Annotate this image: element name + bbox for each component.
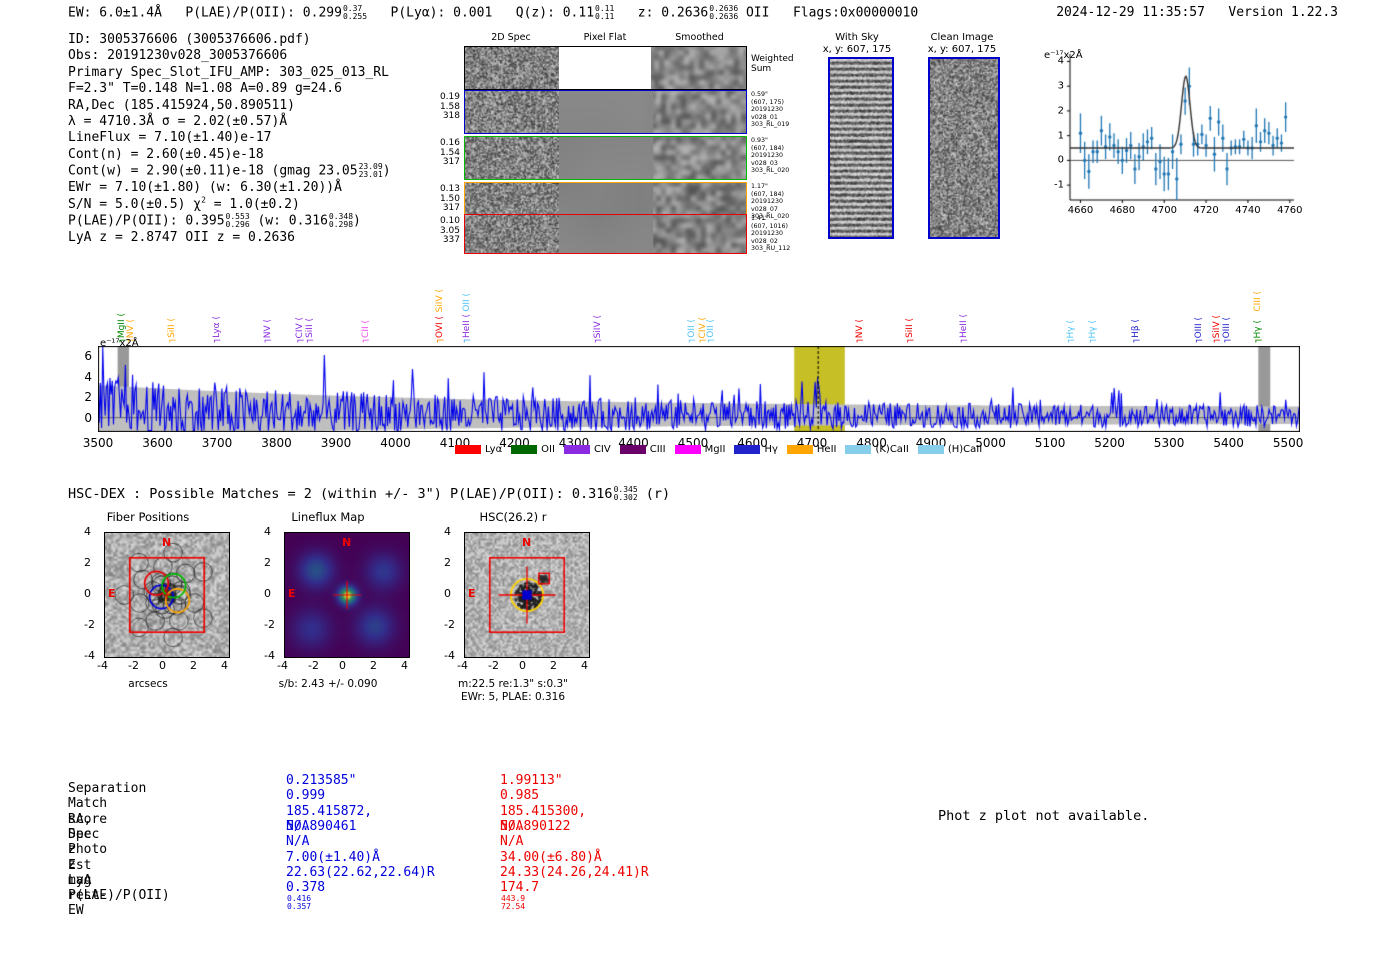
panel-ytick: -2 (444, 618, 455, 631)
spectrum-line-label: SiII ( (167, 318, 177, 338)
info-cont-n: Cont(n) = 2.60(±0.45)e-18 (68, 147, 391, 163)
cutout-title-with-sky: With Skyx, y: 607, 175 (812, 32, 902, 56)
weighted-sum-row (464, 46, 747, 90)
header-timestamp-version: 2024-12-29 11:35:57 Version 1.22.3 (1056, 5, 1338, 20)
header-ew: EW: 6.0±1.4Å (68, 6, 162, 21)
cutout-title-clean: Clean Imagex, y: 607, 175 (912, 32, 1012, 56)
match-value-primary: 22.63(22.62,22.64)R (286, 865, 435, 880)
spectrum-xtick: 5200 (1094, 436, 1125, 450)
legend-label: (H)CaII (948, 444, 982, 455)
legend-swatch (511, 445, 537, 454)
match-value-primary: 0.213585" (286, 773, 356, 788)
match-value-primary: 0.999 (286, 788, 325, 803)
legend-label: OII (541, 444, 555, 455)
panel-ytick: 2 (444, 556, 451, 569)
legend-item[interactable]: HeII (787, 444, 837, 455)
legend-item[interactable]: OII (511, 444, 555, 455)
phot-z-note: Phot z plot not available. (938, 808, 1149, 824)
elp-ytick: -1 (1044, 180, 1064, 191)
panel-hsc-r: HSC(26.2) r m:22.5 re:1.3" s:0.3" EWr: 5… (418, 510, 608, 710)
panel-ytick: 4 (84, 525, 91, 538)
info-sn: S/N = 5.0(±0.5) χ2 = 1.0(±0.2) (68, 197, 391, 213)
panel-title-fiber-positions: Fiber Positions (58, 510, 238, 524)
spectrum-xtick: 3800 (261, 436, 292, 450)
legend-label: Hγ (764, 444, 777, 455)
legend-label: Lyα (485, 444, 502, 455)
match-value-secondary: 0.985 (500, 788, 539, 803)
detection-info-block: ID: 3005376606 (3005376606.pdf) Obs: 201… (68, 32, 391, 246)
spectrum-flux-unit: e⁻¹⁷x2Å (100, 338, 139, 349)
compass-east: E (288, 587, 296, 600)
panel-ytick: -4 (84, 649, 95, 662)
spectrum-line-label: SiII ( (305, 318, 315, 338)
panel-xtick: 4 (221, 659, 228, 672)
header-z-range: 0.26360.2636 (709, 5, 738, 21)
hsc-xlabel2: EWr: 5, PLAE: 0.316 (418, 691, 608, 704)
header-datetime: 2024-12-29 11:35:57 (1056, 5, 1205, 20)
clean-image (928, 57, 1000, 239)
panel-xtick: 4 (581, 659, 588, 672)
weighted-sum-cell-white (559, 47, 651, 89)
legend-swatch (675, 445, 701, 454)
spectrum-xtick: 3500 (83, 436, 114, 450)
hscdex-header: HSC-DEX : Possible Matches = 2 (within +… (68, 486, 670, 502)
legend-item[interactable]: Lyα (455, 444, 502, 455)
info-gmag-range: 23.0923.01 (359, 163, 383, 179)
spec2d-cell-flat (559, 215, 653, 253)
spectrum-line-label: CIV ( (698, 317, 708, 338)
spectrum-ytick: 4 (72, 370, 92, 384)
panel-xtick: -4 (97, 659, 108, 672)
elp-ytick: 0 (1044, 155, 1064, 166)
panel-xtick: -4 (277, 659, 288, 672)
spectrum-line-label: OIII ( (1222, 317, 1232, 338)
spec2d-row-stats: 0.191.58318 (424, 93, 460, 122)
panel-title-hsc-r: HSC(26.2) r (418, 510, 608, 524)
header-version: Version 1.22.3 (1228, 5, 1338, 20)
panel-xtick: 4 (401, 659, 408, 672)
spec2d-row[interactable] (464, 214, 747, 254)
spec2d-cell-raw (465, 215, 559, 253)
legend-item[interactable]: (K)CaII (845, 444, 908, 455)
spectrum-line-label: OIII ( (1194, 317, 1204, 338)
match-row-label: mag (68, 873, 91, 888)
match-value-primary: 7.00(±1.40)Å (286, 850, 380, 865)
spectrum-xtick: 5300 (1154, 436, 1185, 450)
elp-xtick: 4660 (1068, 205, 1093, 216)
spectrum-line-label: SiIV ( (593, 315, 603, 338)
spectrum-ytick: 0 (72, 411, 92, 425)
header-plae: P(LAE)/P(OII): 0.299 (185, 6, 342, 21)
elp-xtick: 4720 (1193, 205, 1218, 216)
match-value-secondary: N/A (500, 834, 523, 849)
emission-line-plot: e⁻¹⁷x2Å 466046804700472047404760-101234 (1038, 48, 1300, 228)
panel-xtick: 2 (370, 659, 377, 672)
header-flags: Flags:0x00000010 (793, 6, 918, 21)
legend-label: MgII (705, 444, 726, 455)
spectrum-line-label: SiII ( (905, 318, 915, 338)
spectrum-line-label: OVI ( (435, 316, 445, 338)
spec2d-row-stats: 0.131.50317 (424, 185, 460, 214)
spec2d-cell-flat (559, 91, 653, 133)
info-redshifts: LyA z = 2.8747 OII z = 0.2636 (68, 230, 391, 246)
match-value-secondary: 34.00(±6.80)Å (500, 850, 602, 865)
info-seeing: F=2.3" T=0.148 N=1.08 A=0.89 g=24.6 (68, 81, 391, 97)
panel-ytick: 0 (84, 587, 91, 600)
info-cont-w: Cont(w) = 2.90(±0.11)e-18 (gmag 23.0523.… (68, 163, 391, 180)
weighted-sum-label: WeightedSum (751, 54, 794, 74)
panel-xtick: -2 (308, 659, 319, 672)
spec2d-row-meta: 0.93"(607, 184)20191230v028_03303_RL_020 (751, 137, 821, 175)
elp-ytick: 1 (1044, 130, 1064, 141)
legend-item[interactable]: CIV (564, 444, 611, 455)
panel-xtick: -2 (128, 659, 139, 672)
spec2d-cell-smooth (653, 137, 747, 179)
spectrum-line-label: HeII ( (462, 314, 472, 338)
match-value-primary: N/A (286, 819, 309, 834)
info-id: ID: 3005376606 (3005376606.pdf) (68, 32, 391, 48)
spectrum-line-labels: MgII (⌐NV (⌐SiII (⌐Lyα (⌐NV (⌐CIV (⌐SiII… (98, 272, 1300, 346)
header-qz: Q(z): 0.11 (516, 6, 594, 21)
header-z-type: OII (746, 6, 769, 21)
spectrum-line-label: HeII ( (959, 314, 969, 338)
spec2d-row-meta: 1.41"(607, 1016)20191230v028_02303_RU_11… (751, 215, 821, 253)
legend-label: CIII (650, 444, 666, 455)
compass-east: E (468, 587, 476, 600)
spectrum-line-label: OII ( (462, 293, 472, 312)
panel-ytick: 2 (264, 556, 271, 569)
panel-ytick: -2 (84, 618, 95, 631)
match-value-primary: N/A (286, 834, 309, 849)
spectrum-xtick: 4000 (380, 436, 411, 450)
match-value-secondary: N/A (500, 819, 523, 834)
spec2d-row[interactable] (464, 136, 747, 180)
match-plae-secondary: 174.7443.972.54 (500, 880, 539, 911)
legend-swatch (918, 445, 944, 454)
col-title-2dspec: 2D Spec (464, 32, 558, 43)
header-plae-range: 0.370.255 (343, 5, 367, 21)
panel-ytick: -4 (444, 649, 455, 662)
match-value-secondary: 1.99113" (500, 773, 563, 788)
elp-xtick: 4760 (1277, 205, 1302, 216)
spectrum-line-label: Lyα ( (212, 316, 222, 338)
panel-xtick: 2 (190, 659, 197, 672)
spec2d-cell-flat (559, 137, 653, 179)
info-ewr: EWr = 7.10(±1.80) (w: 6.30(±1.20))Å (68, 180, 391, 196)
spectrum-xtick: 3900 (321, 436, 352, 450)
spectrum-line-label: CIV ( (295, 317, 305, 338)
spectrum-xtick: 5400 (1213, 436, 1244, 450)
info-plae-w-range: 0.3480.298 (329, 213, 353, 229)
elp-xtick: 4740 (1235, 205, 1260, 216)
compass-north: N (342, 536, 351, 549)
match-row-label: Separation (68, 781, 146, 796)
elp-ytick: 4 (1044, 56, 1064, 67)
info-radec: RA,Dec (185.415924,50.890511) (68, 98, 391, 114)
legend-label: CIV (594, 444, 611, 455)
spectrum-xtick: 3600 (142, 436, 173, 450)
spectrum-ytick: 2 (72, 390, 92, 404)
panel-ytick: 4 (264, 525, 271, 538)
spec2d-cell-raw (465, 137, 559, 179)
fiber-xlabel: arcsecs (58, 678, 238, 691)
compass-east: E (108, 587, 116, 600)
spec2d-row[interactable] (464, 90, 747, 134)
panel-xtick: 0 (339, 659, 346, 672)
spectrum-line-label: SiIV ( (435, 289, 445, 312)
panel-ytick: 2 (84, 556, 91, 569)
panel-xtick: -2 (488, 659, 499, 672)
lineflux-xlabel: s/b: 2.43 +/- 0.090 (238, 678, 418, 691)
hsc-xlabel: m:22.5 re:1.3" s:0.3" (418, 678, 608, 691)
panel-ytick: 4 (444, 525, 451, 538)
panel-ytick: 0 (264, 587, 271, 600)
spec2d-cell-smooth (653, 91, 747, 133)
spec2d-cell-raw (465, 91, 559, 133)
legend-item[interactable]: (H)CaII (918, 444, 982, 455)
spec2d-row-stats: 0.103.05337 (424, 217, 460, 246)
info-primary-spec: Primary Spec_Slot_IFU_AMP: 303_025_013_R… (68, 65, 391, 81)
weighted-sum-cell-smooth (651, 47, 746, 89)
spectrum-xtick: 5100 (1035, 436, 1066, 450)
panel-title-lineflux-map: Lineflux Map (238, 510, 418, 524)
header-qz-range: 0.110.11 (595, 5, 614, 21)
compass-north: N (522, 536, 531, 549)
panel-xtick: 0 (519, 659, 526, 672)
summary-header: EW: 6.0±1.4Å P(LAE)/P(OII): 0.2990.370.2… (68, 5, 918, 21)
legend-swatch (787, 445, 813, 454)
spectrum-ytick: 6 (72, 349, 92, 363)
legend-item[interactable]: Hγ (734, 444, 777, 455)
spectrum-legend: LyαOIICIVCIIIMgIIHγHeII(K)CaII(H)CaII (455, 444, 991, 455)
info-lineflux: LineFlux = 7.10(±1.40)e-17 (68, 130, 391, 146)
elp-ytick: 2 (1044, 105, 1064, 116)
info-lambda: λ = 4710.3Å σ = 2.02(±0.57)Å (68, 114, 391, 130)
panel-lineflux-map: Lineflux Map s/b: 2.43 +/- 0.090 (238, 510, 418, 700)
legend-swatch (845, 445, 871, 454)
spectrum-line-label: CIII ( (1253, 291, 1263, 312)
elp-xtick: 4700 (1151, 205, 1176, 216)
header-plya: P(Lyα): 0.001 (391, 6, 493, 21)
match-value-secondary: 24.33(24.26,24.41)R (500, 865, 649, 880)
header-z: z: 0.2636 (638, 6, 708, 21)
legend-swatch (564, 445, 590, 454)
legend-label: (K)CaII (875, 444, 908, 455)
weighted-sum-cell-raw (465, 47, 559, 89)
panel-ytick: 0 (444, 587, 451, 600)
legend-label: HeII (817, 444, 837, 455)
match-row-label-plae: P(LAE)/P(OII) (68, 888, 170, 903)
2d-spec-panel: 2D Spec Pixel Flat Smoothed WeightedSum … (424, 32, 764, 254)
panel-fiber-positions: Fiber Positions arcsecs (58, 510, 238, 700)
match-plae-primary: 0.3780.4160.357 (286, 880, 325, 911)
panel-xtick: -4 (457, 659, 468, 672)
spectrum-line-label: SiIV ( (1212, 315, 1222, 338)
info-obs: Obs: 20191230v028_3005376606 (68, 48, 391, 64)
col-title-smoothed: Smoothed (652, 32, 747, 43)
spectrum-xtick: 3700 (202, 436, 233, 450)
info-plae: P(LAE)/P(OII): 0.3950.5530.296 (w: 0.316… (68, 213, 391, 230)
info-plae-range: 0.5530.296 (226, 213, 250, 229)
legend-item[interactable]: CIII (620, 444, 666, 455)
spec2d-cell-smooth (653, 215, 747, 253)
legend-swatch (734, 445, 760, 454)
panel-ytick: -4 (264, 649, 275, 662)
legend-swatch (620, 445, 646, 454)
full-spectrum-plot (98, 346, 1300, 432)
spectrum-xtick: 5500 (1273, 436, 1304, 450)
compass-north: N (162, 536, 171, 549)
with-sky-image (828, 57, 894, 239)
panel-xtick: 0 (159, 659, 166, 672)
panel-ytick: -2 (264, 618, 275, 631)
panel-xtick: 2 (550, 659, 557, 672)
elp-xtick: 4680 (1110, 205, 1135, 216)
hscdex-plae-range: 0.3450.302 (614, 486, 638, 502)
elp-ytick: 3 (1044, 81, 1064, 92)
legend-item[interactable]: MgII (675, 444, 726, 455)
spec2d-row-meta: 0.59"(607, 175)20191230v028_01303_RL_019 (751, 91, 821, 129)
col-title-pixelflat: Pixel Flat (558, 32, 652, 43)
legend-swatch (455, 445, 481, 454)
spec2d-row-stats: 0.161.54317 (424, 139, 460, 168)
